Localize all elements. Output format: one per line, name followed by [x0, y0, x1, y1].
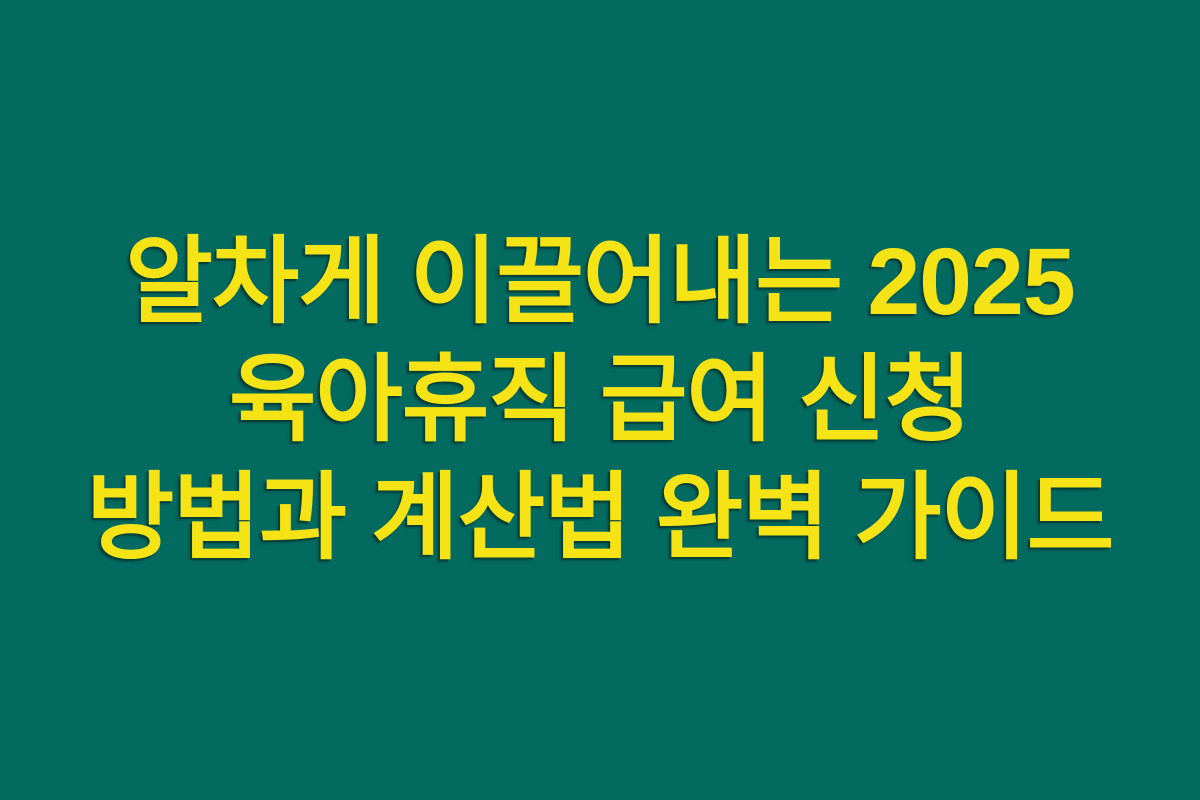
page-title: 알차게 이끌어내는 2025 육아휴직 급여 신청 방법과 계산법 완벽 가이드 [0, 223, 1200, 577]
thumbnail-poster: 알차게 이끌어내는 2025 육아휴직 급여 신청 방법과 계산법 완벽 가이드 [0, 0, 1200, 800]
title-line-1: 알차게 이끌어내는 2025 [18, 223, 1182, 341]
title-line-2: 육아휴직 급여 신청 [18, 341, 1182, 459]
title-line-3: 방법과 계산법 완벽 가이드 [18, 459, 1182, 577]
